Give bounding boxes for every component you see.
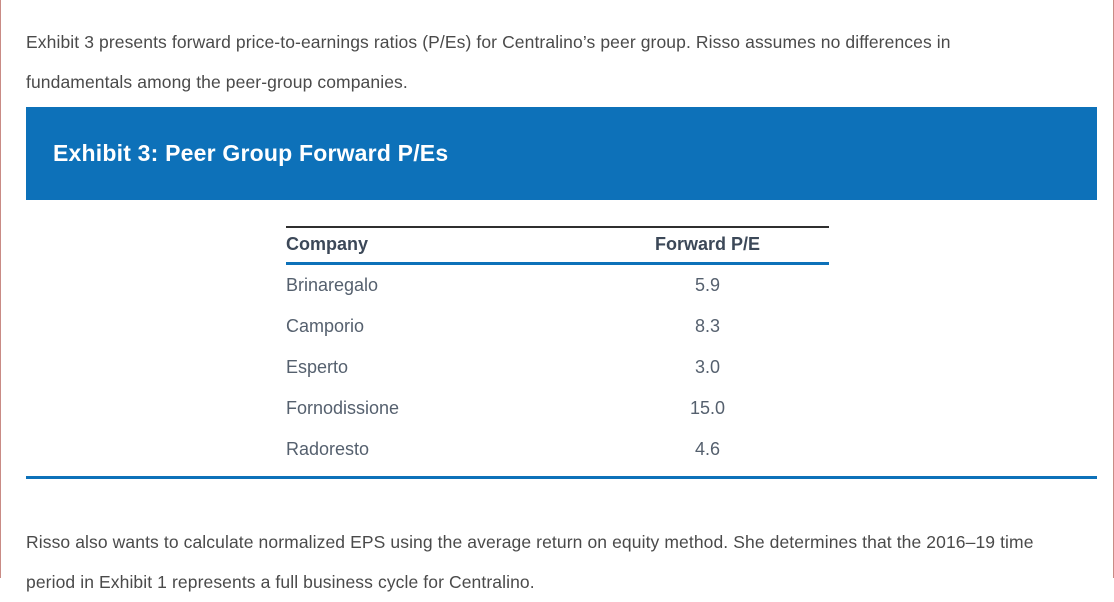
table-row: Fornodissione 15.0: [286, 388, 829, 429]
table-row: Radoresto 4.6: [286, 429, 829, 470]
exhibit-bottom-divider: [26, 476, 1097, 479]
peer-group-table-container: Company Forward P/E Brinaregalo 5.9 Camp…: [286, 226, 829, 470]
cell-forward-pe: 5.9: [586, 264, 829, 307]
cell-company: Esperto: [286, 347, 586, 388]
table-head: Company Forward P/E: [286, 227, 829, 264]
column-header-forward-pe: Forward P/E: [586, 227, 829, 264]
cell-company: Fornodissione: [286, 388, 586, 429]
exhibit-title: Exhibit 3: Peer Group Forward P/Es: [53, 140, 448, 167]
cell-company: Brinaregalo: [286, 264, 586, 307]
document-page: Exhibit 3 presents forward price-to-earn…: [0, 0, 1114, 578]
table-row: Camporio 8.3: [286, 306, 829, 347]
page-content: Exhibit 3 presents forward price-to-earn…: [25, 0, 1096, 578]
cell-company: Camporio: [286, 306, 586, 347]
table-row: Esperto 3.0: [286, 347, 829, 388]
table-row: Brinaregalo 5.9: [286, 264, 829, 307]
closing-paragraph: Risso also wants to calculate normalized…: [26, 522, 1086, 602]
intro-paragraph: Exhibit 3 presents forward price-to-earn…: [26, 22, 1026, 102]
table-body: Brinaregalo 5.9 Camporio 8.3 Esperto 3.0…: [286, 264, 829, 471]
column-header-company: Company: [286, 227, 586, 264]
table-header-row: Company Forward P/E: [286, 227, 829, 264]
cell-forward-pe: 4.6: [586, 429, 829, 470]
cell-company: Radoresto: [286, 429, 586, 470]
cell-forward-pe: 15.0: [586, 388, 829, 429]
cell-forward-pe: 8.3: [586, 306, 829, 347]
exhibit-header-bar: Exhibit 3: Peer Group Forward P/Es: [26, 107, 1097, 200]
cell-forward-pe: 3.0: [586, 347, 829, 388]
peer-group-table: Company Forward P/E Brinaregalo 5.9 Camp…: [286, 226, 829, 470]
